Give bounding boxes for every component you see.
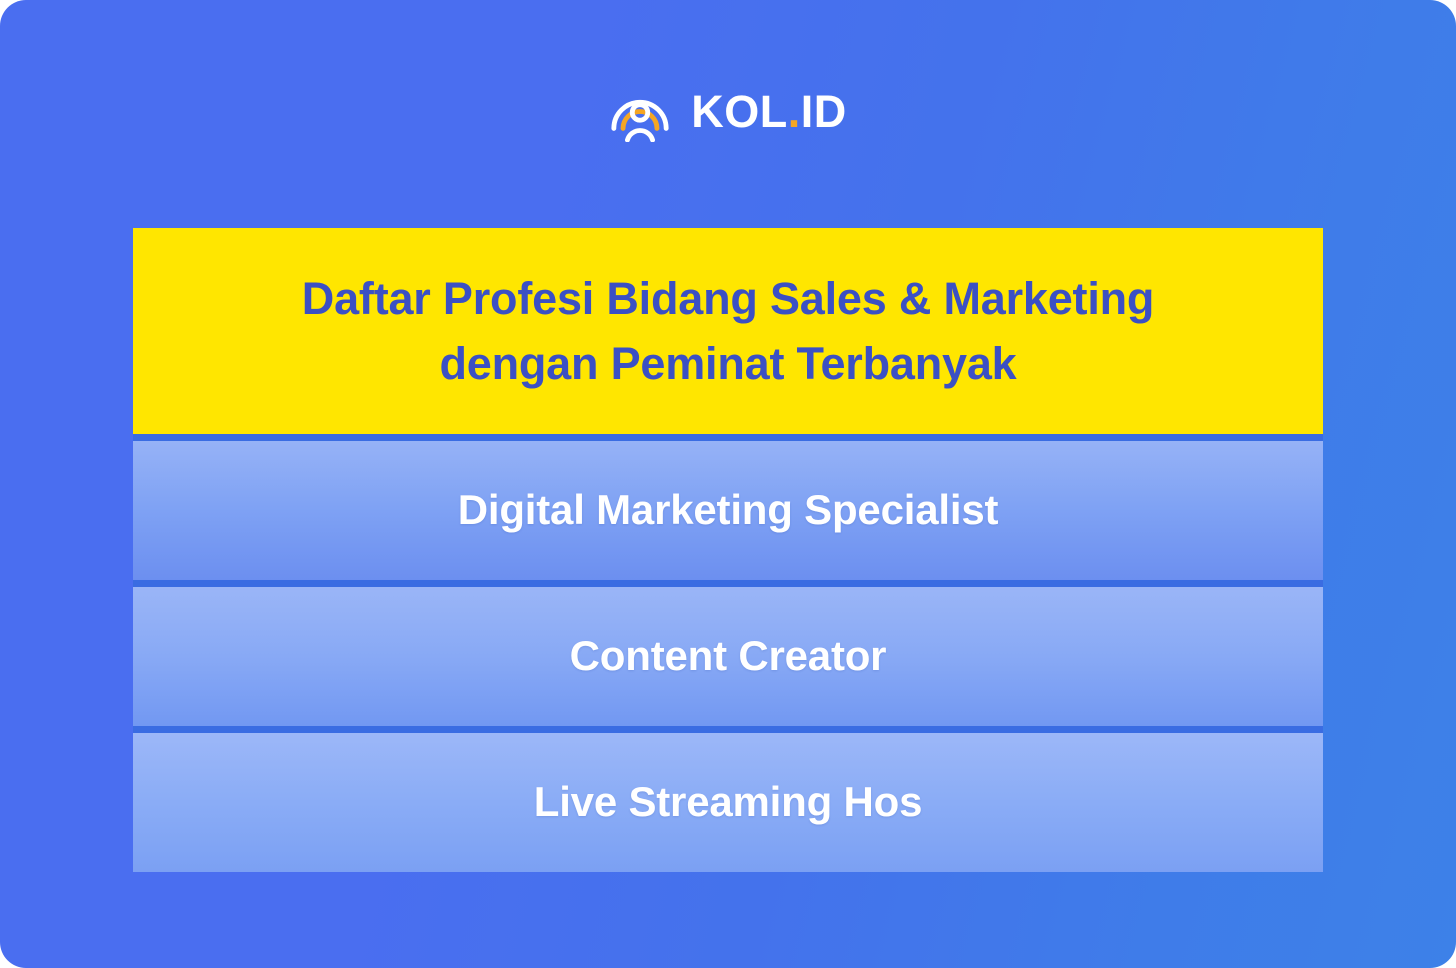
kol-radial-person-icon bbox=[609, 80, 671, 142]
brand-wordmark: KOL.ID bbox=[691, 89, 847, 134]
list-item-label: Content Creator bbox=[570, 633, 887, 679]
list-item[interactable]: Live Streaming Hos bbox=[133, 733, 1323, 872]
brand-logo: KOL.ID bbox=[609, 78, 847, 144]
headline-line-2: dengan Peminat Terbanyak bbox=[439, 338, 1016, 389]
brand-name-part2: ID bbox=[801, 89, 847, 134]
row-separator bbox=[133, 434, 1323, 441]
content-stack: Daftar Profesi Bidang Sales & Marketing … bbox=[133, 228, 1323, 872]
list-item[interactable]: Content Creator bbox=[133, 587, 1323, 726]
list-item-label: Digital Marketing Specialist bbox=[458, 487, 999, 533]
list-item-label: Live Streaming Hos bbox=[534, 779, 923, 825]
poster-canvas: KOL.ID Daftar Profesi Bidang Sales & Mar… bbox=[0, 0, 1456, 968]
brand-name-part1: KOL bbox=[691, 89, 788, 134]
headline-line-1: Daftar Profesi Bidang Sales & Marketing bbox=[302, 273, 1154, 324]
brand-dot: . bbox=[788, 89, 801, 134]
page-title: Daftar Profesi Bidang Sales & Marketing … bbox=[302, 266, 1154, 397]
row-separator bbox=[133, 726, 1323, 733]
list-item[interactable]: Digital Marketing Specialist bbox=[133, 441, 1323, 580]
headline-banner: Daftar Profesi Bidang Sales & Marketing … bbox=[133, 228, 1323, 434]
row-separator bbox=[133, 580, 1323, 587]
